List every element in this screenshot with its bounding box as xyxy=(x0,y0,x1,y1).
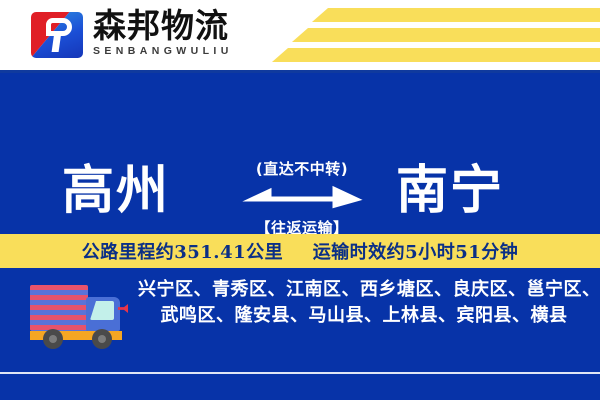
truck-rear-wheel xyxy=(43,329,63,349)
route-panel: 高州 (直达不中转) 【往返运输】 南宁 xyxy=(0,73,600,234)
logistics-route-banner: 森邦物流 SENBANGWULIU 高州 (直达不中转) 【往返运输】 南宁 公… xyxy=(0,0,600,400)
truck-cargo-box xyxy=(30,285,88,331)
header-stripes-decoration xyxy=(270,0,600,70)
destination-city: 南宁 xyxy=(396,163,504,219)
transit-info: (直达不中转) 【往返运输】 xyxy=(238,158,366,238)
header-stripe-2 xyxy=(292,28,600,42)
direct-note: (直达不中转) xyxy=(238,158,366,179)
mileage-text: 公路里程约351.41公里 xyxy=(82,242,283,263)
origin-city: 高州 xyxy=(62,163,170,219)
senbang-r-logo-icon xyxy=(31,12,83,58)
header-stripe-1 xyxy=(312,8,600,22)
distance-text: 公路里程约351.41公里 运输时效约5小时51分钟 xyxy=(82,238,519,264)
distance-bar: 公路里程约351.41公里 运输时效约5小时51分钟 xyxy=(0,234,600,268)
company-name-en: SENBANGWULIU xyxy=(93,45,313,57)
delivery-truck-icon xyxy=(30,283,134,351)
company-name-block: 森邦物流 SENBANGWULIU xyxy=(93,8,313,57)
banner-header: 森邦物流 SENBANGWULIU xyxy=(0,0,600,70)
coverage-area-list: 兴宁区、青秀区、江南区、西乡塘区、良庆区、邕宁区、 武鸣区、隆安县、马山县、上林… xyxy=(138,277,590,329)
coverage-line-1: 兴宁区、青秀区、江南区、西乡塘区、良庆区、邕宁区、 xyxy=(138,277,590,303)
company-name-cn: 森邦物流 xyxy=(93,8,313,44)
coverage-line-2: 武鸣区、隆安县、马山县、上林县、宾阳县、横县 xyxy=(138,303,590,329)
truck-front-wheel xyxy=(92,329,112,349)
duration-text: 运输时效约5小时51分钟 xyxy=(313,242,519,263)
banner-footer xyxy=(0,374,600,400)
double-headed-arrow-icon xyxy=(238,183,366,213)
header-stripe-3 xyxy=(272,48,600,62)
